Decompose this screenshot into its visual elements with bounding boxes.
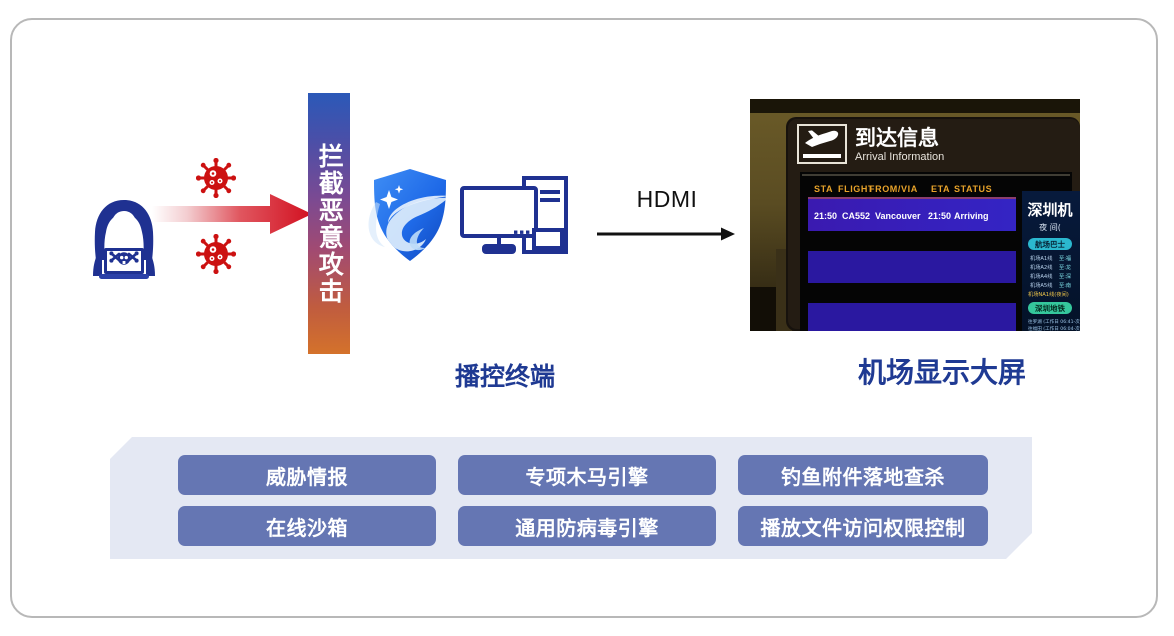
intercept-attack-label: 拦截恶意攻击 xyxy=(316,143,343,305)
svg-text:CA552: CA552 xyxy=(842,211,870,221)
feature-box-online-sandbox[interactable]: 在线沙箱 xyxy=(178,506,436,546)
feature-box-phishing-attachment-scan[interactable]: 钓鱼附件落地查杀 xyxy=(738,455,988,495)
svg-text:到达信息: 到达信息 xyxy=(855,126,939,150)
blue-shield-swoosh-logo-icon xyxy=(366,166,454,264)
svg-text:至:深: 至:深 xyxy=(1059,272,1071,280)
svg-text:往罗湖 (工作日 06:41-次日00: 往罗湖 (工作日 06:41-次日00 xyxy=(1028,318,1080,325)
virus-icon xyxy=(196,234,236,274)
svg-text:机场NA1线(夜间): 机场NA1线(夜间) xyxy=(1028,290,1069,298)
photo-flight-table: STA FLIGHT FROM/VIA ETA STATUS 21:50 CA5… xyxy=(808,184,1016,331)
diagram-canvas: 拦截恶意攻击 xyxy=(0,0,1174,636)
hooded-hacker-laptop-skull-icon xyxy=(88,198,160,284)
svg-text:航场巴士: 航场巴士 xyxy=(1035,239,1065,249)
svg-text:机场A5线: 机场A5线 xyxy=(1030,281,1052,289)
svg-text:21:50: 21:50 xyxy=(814,211,837,221)
svg-text:深圳机: 深圳机 xyxy=(1027,201,1072,219)
svg-text:机场A2线: 机场A2线 xyxy=(1030,263,1052,271)
photo-side-panel: 深圳机 夜 间( 航场巴士 机场A1线 至:福 机场A2线 至:龙 机场A4线 … xyxy=(1022,191,1080,331)
svg-text:至:龙: 至:龙 xyxy=(1059,263,1071,271)
hdmi-connection: HDMI xyxy=(597,186,737,254)
intercept-attack-bar: 拦截恶意攻击 xyxy=(308,93,350,354)
svg-text:21:50: 21:50 xyxy=(928,211,951,221)
caption-terminal: 播控终端 xyxy=(455,357,555,393)
svg-text:STA: STA xyxy=(814,184,833,194)
svg-text:深圳地铁: 深圳地铁 xyxy=(1035,303,1065,313)
svg-text:夜 间(: 夜 间( xyxy=(1039,222,1061,232)
svg-text:Vancouver: Vancouver xyxy=(875,211,921,221)
svg-text:ETA: ETA xyxy=(931,184,950,194)
feature-box-playback-access-control[interactable]: 播放文件访问权限控制 xyxy=(738,506,988,546)
svg-text:STATUS: STATUS xyxy=(954,184,992,194)
features-grid: 威胁情报 专项木马引擎 钓鱼附件落地查杀 在线沙箱 通用防病毒引擎 播放文件访问… xyxy=(178,455,988,546)
caption-big-screen: 机场显示大屏 xyxy=(858,351,1026,391)
desktop-monitor-tower-icon xyxy=(458,172,570,264)
attack-arrow-icon xyxy=(152,192,312,236)
hdmi-label: HDMI xyxy=(597,186,737,213)
feature-box-trojan-engine[interactable]: 专项木马引擎 xyxy=(458,455,716,495)
svg-text:机场A4线: 机场A4线 xyxy=(1030,272,1052,280)
svg-text:至:福: 至:福 xyxy=(1059,254,1071,262)
airport-arrival-display-photo: 到达信息 Arrival Information STA FLIGHT FROM… xyxy=(750,99,1080,331)
features-banner: 威胁情报 专项木马引擎 钓鱼附件落地查杀 在线沙箱 通用防病毒引擎 播放文件访问… xyxy=(110,437,1032,559)
svg-text:FROM/VIA: FROM/VIA xyxy=(869,184,918,194)
feature-box-antivirus-engine[interactable]: 通用防病毒引擎 xyxy=(458,506,716,546)
feature-box-threat-intel[interactable]: 威胁情报 xyxy=(178,455,436,495)
svg-text:Arriving: Arriving xyxy=(954,211,989,221)
svg-text:Arrival Information: Arrival Information xyxy=(855,151,944,163)
svg-text:机场A1线: 机场A1线 xyxy=(1030,254,1052,262)
hdmi-arrow-icon xyxy=(597,225,737,248)
svg-text:至:南: 至:南 xyxy=(1059,281,1071,289)
